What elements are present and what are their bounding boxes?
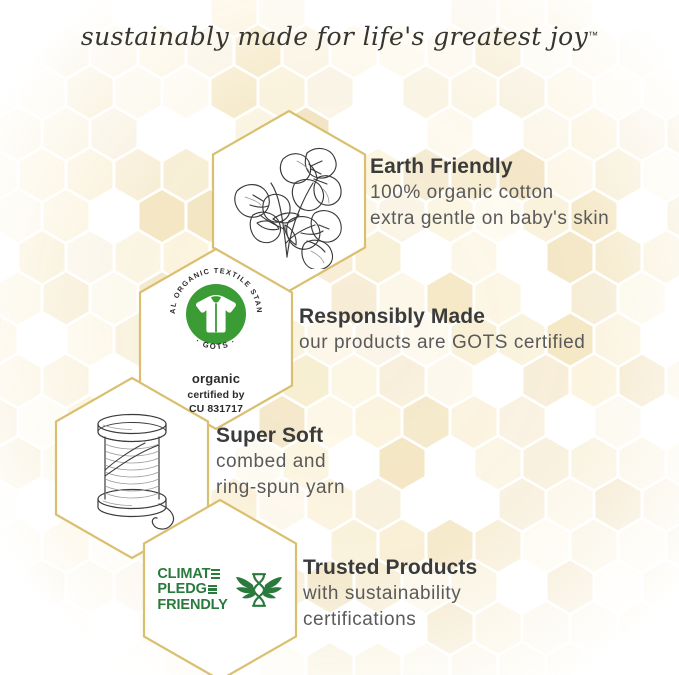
hex-frame-trusted-products — [140, 497, 300, 675]
trademark-symbol: ™ — [588, 31, 598, 42]
honeycomb-cell — [428, 355, 473, 407]
honeycomb-cell — [596, 231, 641, 283]
honeycomb-cell — [356, 396, 401, 448]
honeycomb-cell — [428, 108, 473, 160]
honeycomb-cell — [68, 314, 113, 366]
honeycomb-cell — [0, 190, 41, 242]
honeycomb-cell — [308, 643, 353, 675]
honeycomb-cell — [548, 231, 593, 283]
honeycomb-cell — [620, 355, 665, 407]
honeycomb-cell — [596, 561, 641, 613]
feature-title: Earth Friendly — [370, 154, 609, 180]
honeycomb-cell — [92, 272, 137, 324]
honeycomb-cell — [0, 108, 41, 160]
honeycomb-cell — [452, 66, 497, 118]
honeycomb-cell — [596, 66, 641, 118]
honeycomb-cell — [572, 437, 617, 489]
honeycomb-cell — [164, 149, 209, 201]
honeycomb-cell — [68, 561, 113, 613]
honeycomb-cell — [500, 66, 545, 118]
feature-text-earth-friendly: Earth Friendly 100% organic cotton extra… — [370, 154, 609, 231]
honeycomb-cell — [0, 437, 41, 489]
honeycomb-cell — [356, 478, 401, 530]
feature-title: Trusted Products — [303, 555, 477, 581]
honeycomb-cell — [644, 231, 679, 283]
honeycomb-cell — [164, 66, 209, 118]
honeycomb-cell — [476, 437, 521, 489]
honeycomb-cell — [380, 437, 425, 489]
honeycomb-cell — [548, 66, 593, 118]
honeycomb-cell — [68, 231, 113, 283]
honeycomb-cell — [0, 272, 41, 324]
feature-title: Responsibly Made — [299, 304, 585, 330]
honeycomb-cell — [452, 231, 497, 283]
honeycomb-cell — [524, 108, 569, 160]
feature-line: combed and — [216, 449, 345, 474]
honeycomb-cell — [596, 478, 641, 530]
honeycomb-cell — [68, 66, 113, 118]
honeycomb-cell — [44, 602, 89, 654]
honeycomb-cell — [20, 561, 65, 613]
honeycomb-cell — [572, 355, 617, 407]
feature-line: extra gentle on baby's skin — [370, 206, 609, 231]
honeycomb-cell — [380, 355, 425, 407]
feature-line: ring-spun yarn — [216, 475, 345, 500]
honeycomb-cell — [116, 149, 161, 201]
honeycomb-cell — [44, 108, 89, 160]
honeycomb-cell — [0, 520, 41, 572]
honeycomb-cell — [500, 478, 545, 530]
honeycomb-cell — [596, 396, 641, 448]
feature-text-responsibly-made: Responsibly Made our products are GOTS c… — [299, 304, 585, 356]
honeycomb-cell — [452, 396, 497, 448]
honeycomb-cell — [20, 231, 65, 283]
honeycomb-cell — [644, 561, 679, 613]
honeycomb-cell — [524, 355, 569, 407]
honeycomb-cell — [524, 437, 569, 489]
honeycomb-cell — [404, 66, 449, 118]
honeycomb-cell — [572, 520, 617, 572]
honeycomb-cell — [644, 66, 679, 118]
honeycomb-cell — [620, 272, 665, 324]
honeycomb-cell — [68, 149, 113, 201]
honeycomb-cell — [476, 520, 521, 572]
honeycomb-cell — [140, 190, 185, 242]
feature-line: with sustainability — [303, 581, 477, 606]
honeycomb-cell — [356, 643, 401, 675]
honeycomb-cell — [44, 190, 89, 242]
honeycomb-cell — [524, 602, 569, 654]
honeycomb-cell — [572, 108, 617, 160]
honeycomb-cell — [476, 602, 521, 654]
honeycomb-cell — [620, 520, 665, 572]
honeycomb-cell — [572, 602, 617, 654]
headline-text: sustainably made for life's greatest joy — [81, 22, 588, 51]
honeycomb-cell — [404, 396, 449, 448]
feature-text-super-soft: Super Soft combed and ring-spun yarn — [216, 423, 345, 500]
honeycomb-cell — [0, 355, 41, 407]
honeycomb-cell — [20, 66, 65, 118]
promotional-infographic: sustainably made for life's greatest joy… — [0, 0, 679, 675]
honeycomb-cell — [620, 602, 665, 654]
honeycomb-cell — [596, 314, 641, 366]
honeycomb-cell — [668, 355, 679, 407]
honeycomb-cell — [620, 108, 665, 160]
honeycomb-cell — [332, 355, 377, 407]
honeycomb-cell — [500, 396, 545, 448]
feature-title: Super Soft — [216, 423, 345, 449]
honeycomb-cell — [548, 478, 593, 530]
honeycomb-cell — [620, 437, 665, 489]
honeycomb-cell — [524, 520, 569, 572]
honeycomb-cell — [20, 149, 65, 201]
page-title: sustainably made for life's greatest joy… — [0, 22, 679, 51]
honeycomb-cell — [0, 602, 41, 654]
feature-line: 100% organic cotton — [370, 180, 609, 205]
honeycomb-cell — [44, 272, 89, 324]
honeycomb-cell — [548, 561, 593, 613]
honeycomb-cell — [92, 108, 137, 160]
feature-line: our products are GOTS certified — [299, 330, 585, 355]
feature-line: certifications — [303, 607, 477, 632]
honeycomb-cell — [116, 66, 161, 118]
honeycomb-cell — [644, 149, 679, 201]
honeycomb-cell — [644, 478, 679, 530]
feature-text-trusted-products: Trusted Products with sustainability cer… — [303, 555, 477, 632]
